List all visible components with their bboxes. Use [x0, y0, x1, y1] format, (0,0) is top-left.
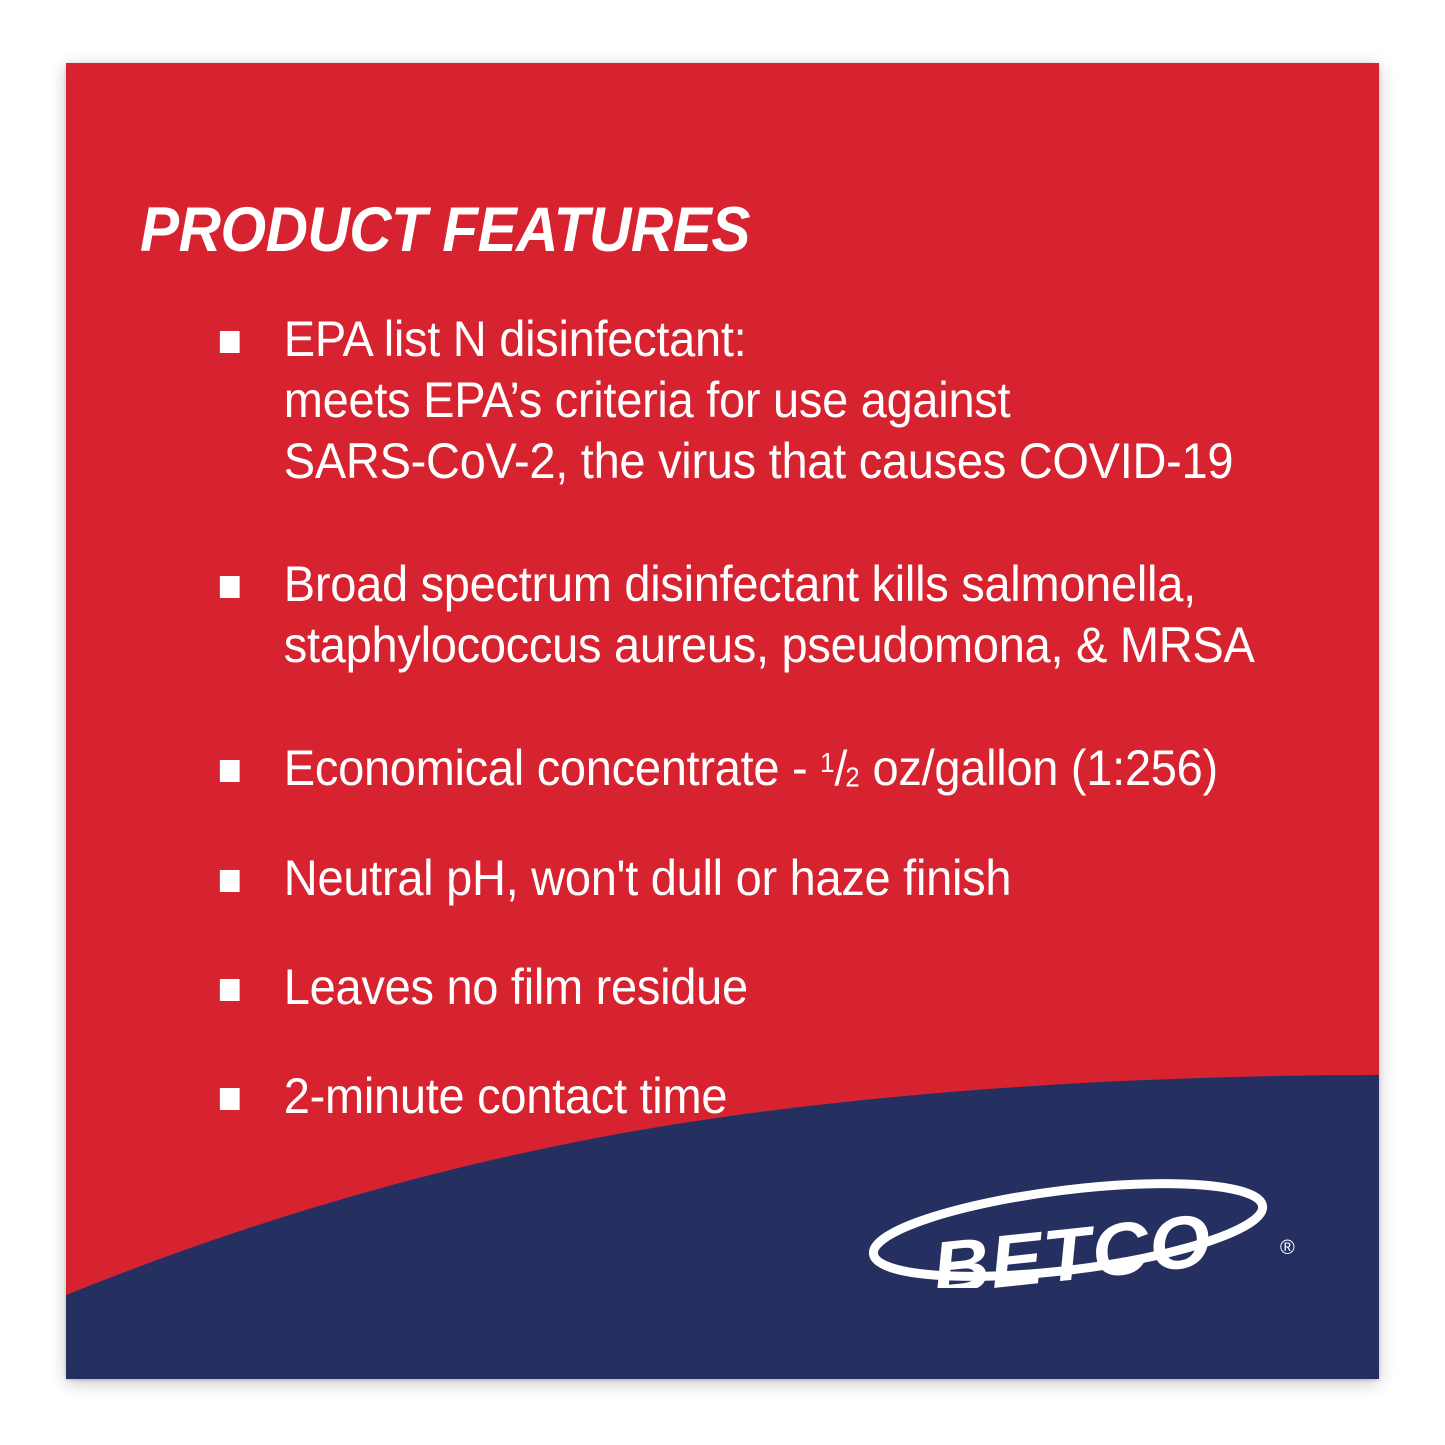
list-item-line: EPA list N disinfectant:: [284, 309, 1309, 370]
square-bullet-icon: [220, 979, 240, 1001]
page-title: PRODUCT FEATURES: [140, 199, 750, 262]
concentrate-suffix: oz/gallon (1:256): [860, 740, 1218, 796]
registered-trademark-icon: ®: [1280, 1237, 1295, 1259]
betco-wordmark: BETCO: [929, 1199, 1216, 1288]
feature-list: EPA list N disinfectant: meets EPA’s cri…: [218, 309, 1378, 1127]
list-item: Leaves no film residue: [218, 957, 1308, 1018]
square-bullet-icon: [220, 1088, 240, 1110]
square-bullet-icon: [220, 760, 240, 782]
list-item-line: 2-minute contact time: [284, 1066, 1309, 1127]
list-item: Neutral pH, won't dull or haze finish: [218, 848, 1308, 909]
fraction-denominator: 2: [845, 761, 859, 792]
list-item-line: SARS-CoV-2, the virus that causes COVID-…: [284, 431, 1309, 492]
list-item-line: Economical concentrate - 1/2 oz/gallon (…: [284, 738, 1309, 800]
product-features-card: PRODUCT FEATURES EPA list N disinfectant…: [66, 63, 1379, 1379]
list-item-line: Neutral pH, won't dull or haze finish: [284, 848, 1309, 909]
concentrate-prefix: Economical concentrate -: [284, 740, 820, 796]
list-item: 2-minute contact time: [218, 1066, 1308, 1127]
list-item: Economical concentrate - 1/2 oz/gallon (…: [218, 738, 1308, 800]
betco-logo: BETCO ®: [856, 1168, 1306, 1288]
list-item: Broad spectrum disinfectant kills salmon…: [218, 554, 1308, 676]
list-item-line: staphylococcus aureus, pseudomona, & MRS…: [284, 615, 1309, 676]
list-item-line: Broad spectrum disinfectant kills salmon…: [284, 554, 1309, 615]
square-bullet-icon: [220, 576, 240, 598]
list-item-line: Leaves no film residue: [284, 957, 1309, 1018]
page-root: PRODUCT FEATURES EPA list N disinfectant…: [0, 0, 1445, 1445]
list-item-line: meets EPA’s criteria for use against: [284, 370, 1309, 431]
list-item: EPA list N disinfectant: meets EPA’s cri…: [218, 309, 1308, 492]
square-bullet-icon: [220, 870, 240, 892]
fraction-slash: /: [834, 742, 845, 796]
half-fraction: 1/2: [820, 740, 860, 800]
square-bullet-icon: [220, 331, 240, 353]
fraction-numerator: 1: [820, 747, 834, 778]
